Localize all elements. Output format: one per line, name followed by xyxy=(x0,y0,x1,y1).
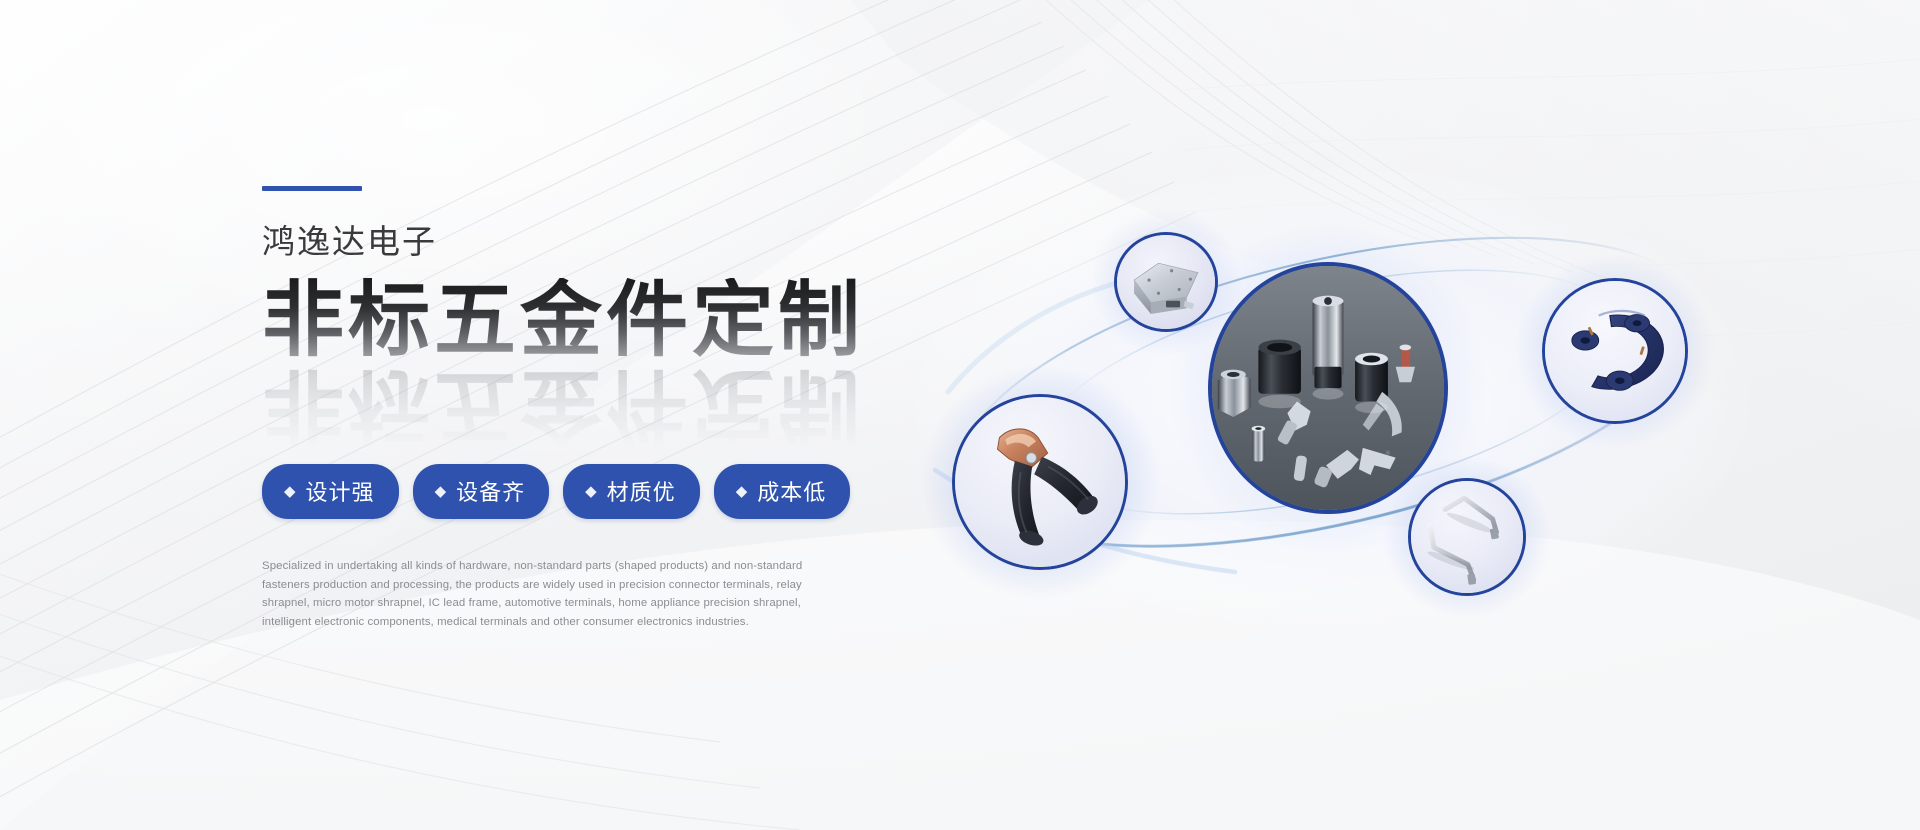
diamond-icon: ◆ xyxy=(736,484,749,499)
description-paragraph: Specialized in undertaking all kinds of … xyxy=(262,557,820,631)
hero-banner: 鸿逸达电子 非标五金件定制 非标五金件定制 ◆ 设计强 ◆ 设备齐 ◆ 材质优 … xyxy=(0,0,1920,830)
metal-shielding-case-photo[interactable] xyxy=(1114,232,1218,332)
hero-copy: 鸿逸达电子 非标五金件定制 非标五金件定制 ◆ 设计强 ◆ 设备齐 ◆ 材质优 … xyxy=(262,186,962,631)
headline-reflection: 非标五金件定制 xyxy=(262,362,864,448)
diamond-icon: ◆ xyxy=(284,484,297,499)
page-title: 非标五金件定制 xyxy=(262,278,864,364)
feature-pill-material[interactable]: ◆ 材质优 xyxy=(563,464,700,519)
diamond-icon: ◆ xyxy=(585,484,598,499)
feature-pill-design[interactable]: ◆ 设计强 xyxy=(262,464,399,519)
shielding-case-illustration xyxy=(1117,235,1215,329)
diamond-icon: ◆ xyxy=(435,484,448,499)
feature-pill-label: 材质优 xyxy=(607,475,676,507)
retaining-ring-illustration xyxy=(1545,281,1685,421)
bent-metal-terminal-pins-photo[interactable] xyxy=(1408,478,1526,596)
feature-pill-label: 成本低 xyxy=(757,475,826,507)
feature-pill-list: ◆ 设计强 ◆ 设备齐 ◆ 材质优 ◆ 成本低 xyxy=(262,464,962,519)
feature-pill-label: 设备齐 xyxy=(456,475,525,507)
copper-battery-clamp-photo[interactable] xyxy=(952,394,1128,570)
snap-retaining-ring-photo[interactable] xyxy=(1542,278,1688,424)
feature-pill-label: 设计强 xyxy=(306,475,375,507)
headline-wrap: 非标五金件定制 非标五金件定制 xyxy=(262,278,962,410)
accent-bar xyxy=(262,186,362,191)
terminal-pins-illustration xyxy=(1411,481,1523,593)
precision-machined-parts-photo[interactable] xyxy=(1208,262,1448,514)
battery-clamp-illustration xyxy=(955,397,1125,567)
feature-pill-cost[interactable]: ◆ 成本低 xyxy=(714,464,851,519)
machined-parts-illustration xyxy=(1212,266,1444,510)
brand-name: 鸿逸达电子 xyxy=(262,221,962,262)
feature-pill-equipment[interactable]: ◆ 设备齐 xyxy=(413,464,550,519)
